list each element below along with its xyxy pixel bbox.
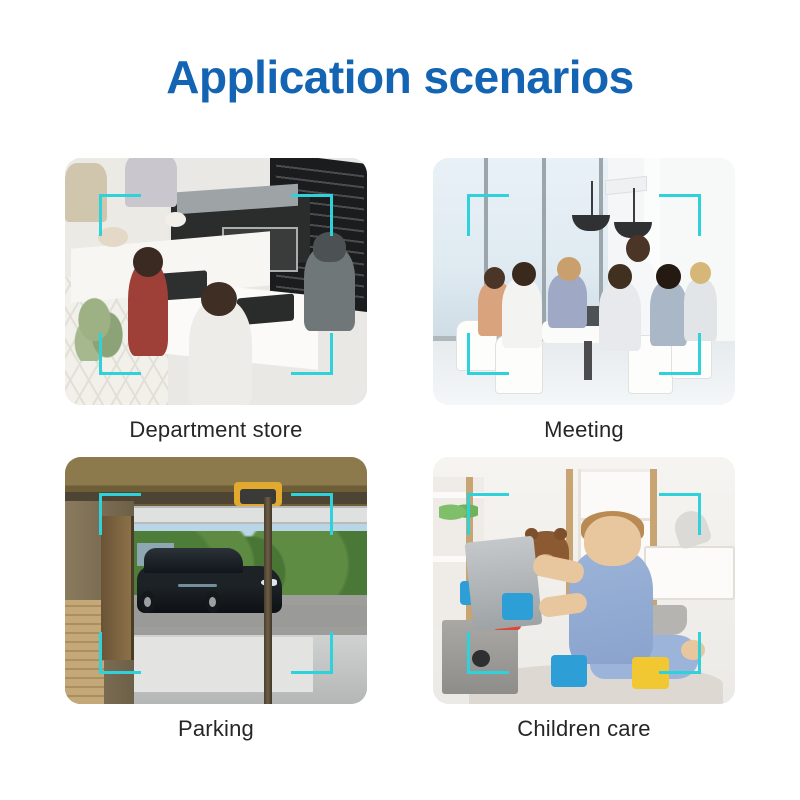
parking-illustration: [65, 457, 367, 704]
meeting-illustration: [433, 158, 735, 405]
scenario-caption-department-store: Department store: [65, 405, 367, 443]
scenario-caption-meeting: Meeting: [433, 405, 735, 443]
scenario-grid: Department store: [65, 158, 735, 742]
scenario-caption-parking: Parking: [65, 704, 367, 742]
application-scenarios-page: Application scenarios: [0, 0, 800, 800]
scenario-caption-children-care: Children care: [433, 704, 735, 742]
scenario-card-department-store[interactable]: Department store: [65, 158, 367, 443]
scenario-photo-parking[interactable]: [65, 457, 367, 704]
scenario-card-parking[interactable]: Parking: [65, 457, 367, 742]
department-store-illustration: [65, 158, 367, 405]
scenario-card-children-care[interactable]: Children care: [433, 457, 735, 742]
scenario-photo-meeting[interactable]: [433, 158, 735, 405]
scenario-photo-department-store[interactable]: [65, 158, 367, 405]
page-title: Application scenarios: [0, 52, 800, 103]
scenario-photo-children-care[interactable]: [433, 457, 735, 704]
children-care-illustration: [433, 457, 735, 704]
scenario-card-meeting[interactable]: Meeting: [433, 158, 735, 443]
